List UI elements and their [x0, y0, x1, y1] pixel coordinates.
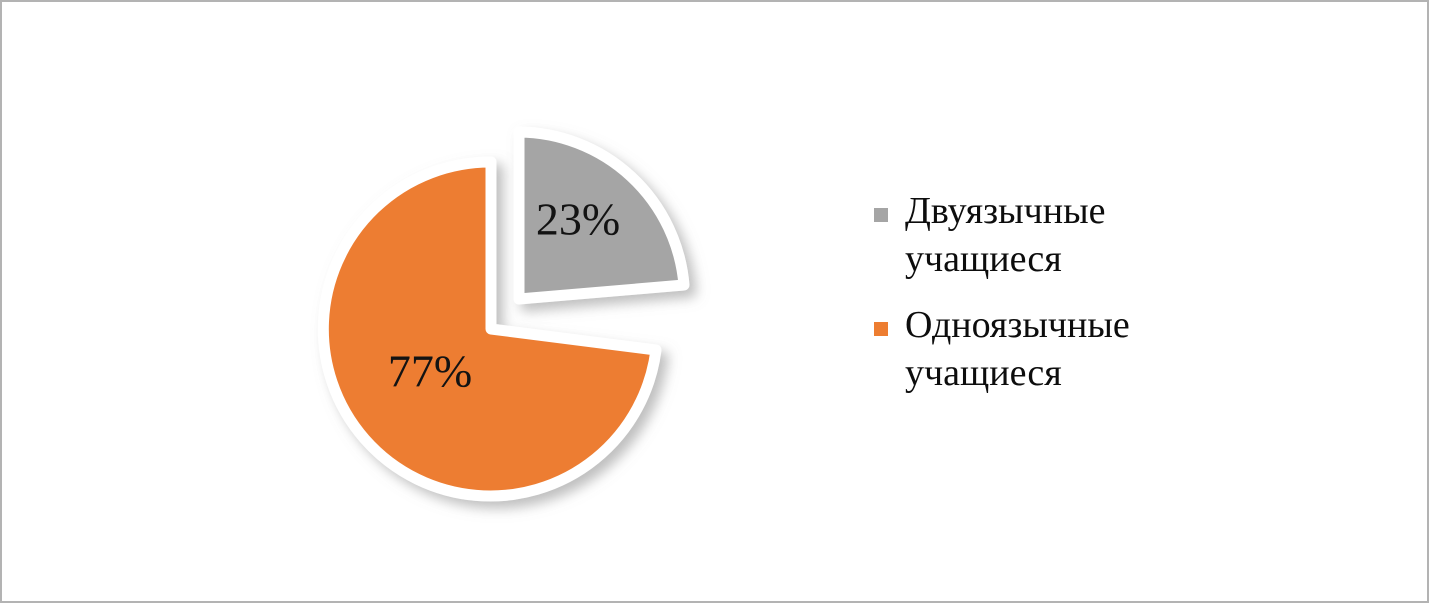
slice-label-onelanguage: 77% [388, 346, 472, 397]
square-marker-icon-bilingual [874, 208, 888, 222]
slice-label-bilingual: 23% [536, 194, 620, 245]
legend-item-bilingual[interactable]: Двуязычные учащиеся [874, 188, 1274, 284]
pie-chart-figure: 23% 77% Двуязычные учащиеся Одноязычные … [0, 0, 1429, 603]
legend: Двуязычные учащиеся Одноязычные учащиеся [874, 188, 1274, 416]
plot-area: 23% 77% [2, 2, 862, 605]
legend-label-onelanguage: Одноязычные учащиеся [905, 302, 1205, 398]
square-marker-icon-onelanguage [874, 322, 888, 336]
legend-label-bilingual: Двуязычные учащиеся [905, 188, 1205, 284]
legend-item-onelanguage[interactable]: Одноязычные учащиеся [874, 302, 1274, 398]
pie-svg: 23% 77% [2, 2, 862, 605]
